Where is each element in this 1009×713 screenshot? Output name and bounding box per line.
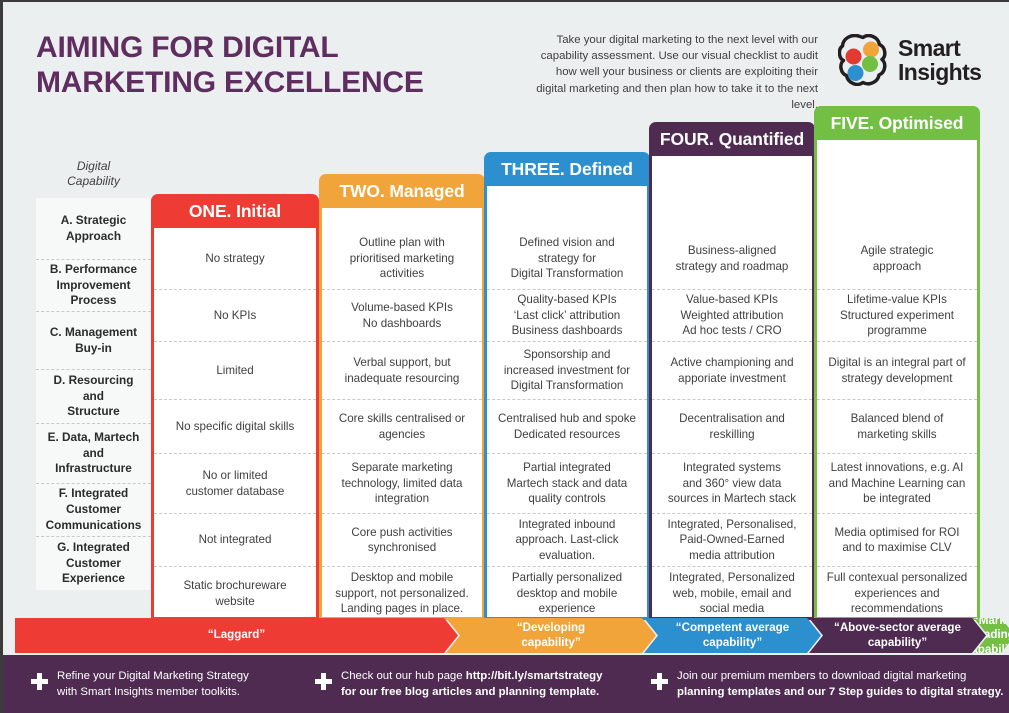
capability-column: Digital Capability A. StrategicApproachB… xyxy=(36,106,151,590)
stage-column-body: Business-alignedstrategy and roadmapValu… xyxy=(649,156,815,620)
matrix-cell[interactable]: Not integrated xyxy=(154,514,316,567)
matrix-cell[interactable]: Partially personalizeddesktop and mobile… xyxy=(487,567,647,620)
matrix-cell[interactable]: Full contexual personalizedexperiences a… xyxy=(817,567,977,620)
matrix-cell[interactable]: Volume-based KPIsNo dashboards xyxy=(322,290,482,342)
stage-column-header[interactable]: ONE. Initial xyxy=(151,194,319,228)
capability-row-label: E. Data, MartechandInfrastructure xyxy=(36,424,151,484)
matrix-cell[interactable]: Separate marketingtechnology, limited da… xyxy=(322,454,482,514)
matrix-cell[interactable]: Integrated, Personalised,Paid-Owned-Earn… xyxy=(652,514,812,567)
capability-column-heading: Digital Capability xyxy=(36,106,151,198)
stage-column-body: Outline plan withprioritised marketingac… xyxy=(319,208,485,620)
matrix-cell[interactable]: Lifetime-value KPIsStructured experiment… xyxy=(817,290,977,342)
capability-row-labels: A. StrategicApproachB. PerformanceImprov… xyxy=(36,198,151,590)
footer-text-line2: planning templates and our 7 Step guides… xyxy=(677,685,1003,701)
matrix-cell[interactable]: Outline plan withprioritised marketingac… xyxy=(322,228,482,290)
matrix-cell[interactable]: Static brochurewarewebsite xyxy=(154,567,316,620)
stage-column-4: FOUR. QuantifiedBusiness-alignedstrategy… xyxy=(649,122,815,620)
logo-word-smart: Smart xyxy=(898,37,981,61)
stage-column-header[interactable]: FOUR. Quantified xyxy=(649,122,815,156)
stage-column-2: TWO. ManagedOutline plan withprioritised… xyxy=(319,174,485,620)
footer-text-line1: Check out our hub page http://bit.ly/sma… xyxy=(341,669,602,685)
matrix-cell[interactable]: Integrated systemsand 360° view datasour… xyxy=(652,454,812,514)
matrix-cell[interactable]: Quality-based KPIs‘Last click’ attributi… xyxy=(487,290,647,342)
matrix-cell[interactable]: Desktop and mobilesupport, not personali… xyxy=(322,567,482,620)
matrix-cell[interactable]: Core push activitiessynchronised xyxy=(322,514,482,567)
stage-banner-label-1: “Laggard” xyxy=(15,618,458,653)
matrix-cell[interactable]: No KPIs xyxy=(154,290,316,342)
page-title-line1: AIMING FOR DIGITAL xyxy=(36,30,506,65)
plus-icon xyxy=(651,673,668,690)
stage-banner-label-4: “Above-sector averagecapability” xyxy=(809,618,986,653)
stage-banner-label-2: “Developingcapability” xyxy=(446,618,656,653)
stage-column-header[interactable]: TWO. Managed xyxy=(319,174,485,208)
footer-text-line2: for our free blog articles and planning … xyxy=(341,685,602,701)
logo-word-insights: Insights xyxy=(898,61,981,85)
matrix-cell[interactable]: Value-based KPIsWeighted attributionAd h… xyxy=(652,290,812,342)
stage-column-spacer xyxy=(652,156,812,228)
page-title: AIMING FOR DIGITAL MARKETING EXCELLENCE xyxy=(36,30,506,101)
capability-matrix: Digital Capability A. StrategicApproachB… xyxy=(3,106,1009,618)
matrix-cell[interactable]: Sponsorship andincreased investment forD… xyxy=(487,342,647,400)
matrix-cell[interactable]: Digital is an integral part ofstrategy d… xyxy=(817,342,977,400)
footer-item-3[interactable]: Join our premium members to download dig… xyxy=(651,669,1003,701)
stage-column-5: FIVE. OptimisedAgile strategicapproachLi… xyxy=(814,106,980,620)
matrix-cell[interactable]: Business-alignedstrategy and roadmap xyxy=(652,228,812,290)
poster-footer: Refine your Digital Marketing Strategywi… xyxy=(3,655,1009,713)
capability-heading-line1: Digital xyxy=(67,159,120,175)
matrix-cell[interactable]: Verbal support, butinadequate resourcing xyxy=(322,342,482,400)
capability-row-label: D. ResourcingandStructure xyxy=(36,370,151,424)
stage-banner: “Laggard”“Developingcapability”“Competen… xyxy=(3,618,1009,653)
matrix-cell[interactable]: Defined vision andstrategy forDigital Tr… xyxy=(487,228,647,290)
stage-column-body: Defined vision andstrategy forDigital Tr… xyxy=(484,186,650,620)
smart-insights-logo: Smart Insights xyxy=(838,34,978,86)
stage-column-spacer xyxy=(817,140,977,228)
stage-column-1: ONE. InitialNo strategyNo KPIsLimitedNo … xyxy=(151,194,319,620)
matrix-cell[interactable]: Centralised hub and spokeDedicated resou… xyxy=(487,400,647,454)
stage-column-header[interactable]: THREE. Defined xyxy=(484,152,650,186)
logo-wordmark: Smart Insights xyxy=(898,37,981,85)
matrix-cell[interactable]: Core skills centralised oragencies xyxy=(322,400,482,454)
matrix-cell[interactable]: No or limitedcustomer database xyxy=(154,454,316,514)
matrix-cell[interactable]: No strategy xyxy=(154,228,316,290)
stage-column-spacer xyxy=(322,208,482,228)
matrix-cell[interactable]: No specific digital skills xyxy=(154,400,316,454)
matrix-cell[interactable]: Balanced blend ofmarketing skills xyxy=(817,400,977,454)
matrix-cell[interactable]: Decentralisation andreskilling xyxy=(652,400,812,454)
stage-column-3: THREE. DefinedDefined vision andstrategy… xyxy=(484,152,650,620)
matrix-cell[interactable]: Agile strategicapproach xyxy=(817,228,977,290)
footer-item-text: Check out our hub page http://bit.ly/sma… xyxy=(341,669,602,701)
stage-column-header[interactable]: FIVE. Optimised xyxy=(814,106,980,140)
matrix-cell[interactable]: Limited xyxy=(154,342,316,400)
matrix-cell[interactable]: Active championing andapporiate investme… xyxy=(652,342,812,400)
intro-paragraph: Take your digital marketing to the next … xyxy=(528,32,818,113)
footer-item-1[interactable]: Refine your Digital Marketing Strategywi… xyxy=(31,669,249,701)
footer-link[interactable]: http://bit.ly/smartstrategy xyxy=(466,670,603,682)
footer-item-text: Refine your Digital Marketing Strategywi… xyxy=(57,669,249,701)
matrix-cell[interactable]: Integrated, Personalizedweb, mobile, ema… xyxy=(652,567,812,620)
matrix-cell[interactable]: Latest innovations, e.g. AIand Machine L… xyxy=(817,454,977,514)
stage-column-spacer xyxy=(487,186,647,228)
footer-text-line1: Join our premium members to download dig… xyxy=(677,669,1003,685)
footer-text-line2: with Smart Insights member toolkits. xyxy=(57,685,249,701)
footer-item-text: Join our premium members to download dig… xyxy=(677,669,1003,701)
matrix-cell[interactable]: Partial integratedMartech stack and data… xyxy=(487,454,647,514)
brain-logo-icon xyxy=(838,34,892,86)
matrix-cell[interactable]: Integrated inboundapproach. Last-clickev… xyxy=(487,514,647,567)
capability-row-label: B. PerformanceImprovementProcess xyxy=(36,260,151,312)
page-title-line2: MARKETING EXCELLENCE xyxy=(36,65,506,100)
plus-icon xyxy=(31,673,48,690)
footer-item-2[interactable]: Check out our hub page http://bit.ly/sma… xyxy=(315,669,602,701)
stage-banner-label-3: “Competent averagecapability” xyxy=(644,618,821,653)
footer-text-line1: Refine your Digital Marketing Strategy xyxy=(57,669,249,685)
capability-row-label: C. ManagementBuy-in xyxy=(36,312,151,370)
capability-row-label: F. IntegratedCustomerCommunications xyxy=(36,484,151,537)
plus-icon xyxy=(315,673,332,690)
capability-row-label: G. IntegratedCustomerExperience xyxy=(36,537,151,590)
capability-heading-line2: Capability xyxy=(67,174,120,190)
poster-header: AIMING FOR DIGITAL MARKETING EXCELLENCE … xyxy=(3,2,1009,110)
infographic-poster: AIMING FOR DIGITAL MARKETING EXCELLENCE … xyxy=(0,0,1009,713)
stage-column-body: No strategyNo KPIsLimitedNo specific dig… xyxy=(151,228,319,620)
capability-row-label: A. StrategicApproach xyxy=(36,198,151,260)
matrix-cell[interactable]: Media optimised for ROIand to maximise C… xyxy=(817,514,977,567)
stage-column-body: Agile strategicapproachLifetime-value KP… xyxy=(814,140,980,620)
